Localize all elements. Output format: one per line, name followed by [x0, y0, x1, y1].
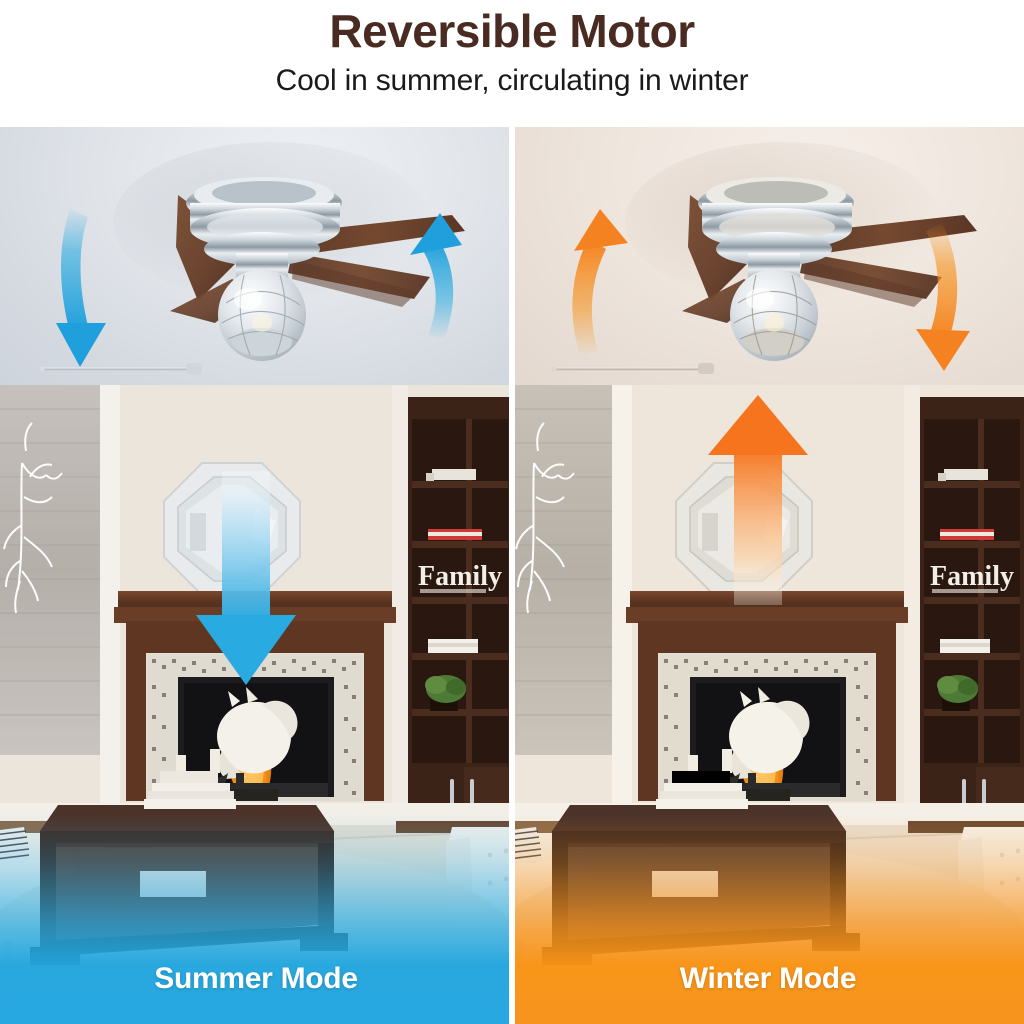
panel-divider	[509, 127, 515, 1024]
pull-chain	[551, 363, 714, 374]
mode-label-summer: Summer Mode	[0, 962, 512, 996]
living-room-illustration-winter: Family	[512, 385, 1024, 1024]
pull-chain	[39, 363, 202, 374]
page-title: Reversible Motor	[0, 8, 1024, 54]
fan-illustration-winter	[512, 127, 1024, 385]
arrow-left-curve-up-winter	[572, 209, 628, 355]
mode-label-winter: Winter Mode	[512, 962, 1024, 996]
page-subtitle: Cool in summer, circulating in winter	[0, 66, 1024, 96]
panel-winter-mode: Family	[512, 127, 1024, 1024]
header: Reversible Motor Cool in summer, circula…	[0, 0, 1024, 127]
panel-summer-mode: Family	[0, 127, 512, 1024]
arrow-left-curve-down-summer	[56, 209, 106, 367]
infographic-root: Reversible Motor Cool in summer, circula…	[0, 0, 1024, 1024]
crystal-light-globe	[218, 269, 306, 361]
ceiling-area-summer	[0, 127, 512, 385]
svg-text:Family: Family	[418, 561, 502, 592]
crystal-light-globe	[730, 269, 818, 361]
family-sign: Family	[930, 561, 1014, 593]
fan-illustration-summer	[0, 127, 512, 385]
living-room-illustration-summer: Family	[0, 385, 512, 1024]
family-sign: Family	[418, 561, 502, 593]
ceiling-area-winter	[512, 127, 1024, 385]
bookcase: Family	[408, 397, 512, 825]
bookcase: Family	[920, 397, 1024, 825]
room-scene-summer: Family	[0, 385, 512, 1024]
room-scene-winter: Family	[512, 385, 1024, 1024]
svg-text:Family: Family	[930, 561, 1014, 592]
